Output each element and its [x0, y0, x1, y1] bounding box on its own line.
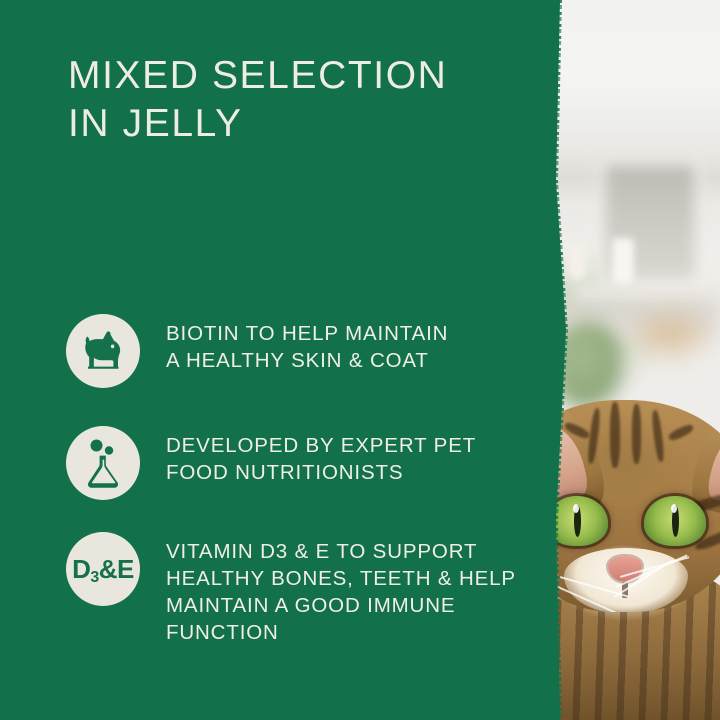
blurred-jar	[612, 238, 634, 284]
benefit-item-biotin: BIOTIN TO HELP MAINTAIN A HEALTHY SKIN &…	[66, 314, 536, 388]
product-pack-image: MIXED SELECTION IN JELLY BIOTIN TO HELP …	[0, 0, 720, 720]
benefit-line: FUNCTION	[166, 619, 516, 646]
cat-forehead-stripe	[610, 402, 620, 468]
cat-forehead-stripe	[651, 410, 665, 463]
benefit-line: DEVELOPED BY EXPERT PET	[166, 432, 476, 459]
title-line-2: IN JELLY	[68, 100, 508, 148]
vitamin-d3-e-label: D3&E	[72, 556, 134, 582]
benefit-line: HEALTHY BONES, TEETH & HELP	[166, 565, 516, 592]
science-flask-icon	[66, 426, 140, 500]
benefit-line: MAINTAIN A GOOD IMMUNE	[166, 592, 516, 619]
benefit-text-vitamin-d3-e: VITAMIN D3 & E TO SUPPORT HEALTHY BONES,…	[166, 532, 516, 646]
benefit-item-vitamin-d3-e: D3&E VITAMIN D3 & E TO SUPPORT HEALTHY B…	[66, 532, 536, 646]
benefits-list: BIOTIN TO HELP MAINTAIN A HEALTHY SKIN &…	[66, 314, 536, 646]
cat-forehead-stripe	[632, 404, 641, 464]
page-title: MIXED SELECTION IN JELLY	[68, 52, 508, 148]
benefit-text-biotin: BIOTIN TO HELP MAINTAIN A HEALTHY SKIN &…	[166, 314, 448, 374]
cat-eye-right	[644, 496, 706, 546]
vitamin-label-tail: &E	[99, 554, 134, 584]
blurred-warm-highlight	[620, 300, 720, 370]
benefit-line: FOOD NUTRITIONISTS	[166, 459, 476, 486]
benefit-item-nutritionists: DEVELOPED BY EXPERT PET FOOD NUTRITIONIS…	[66, 426, 536, 500]
vitamin-d3-e-icon: D3&E	[66, 532, 140, 606]
vitamin-label-sub: 3	[90, 569, 98, 586]
vitamin-label-main: D	[72, 554, 90, 584]
benefit-line: A HEALTHY SKIN & COAT	[166, 347, 448, 374]
benefit-line: VITAMIN D3 & E TO SUPPORT	[166, 538, 516, 565]
benefit-line: BIOTIN TO HELP MAINTAIN	[166, 320, 448, 347]
blurred-jar-secondary	[568, 246, 586, 280]
benefit-text-nutritionists: DEVELOPED BY EXPERT PET FOOD NUTRITIONIS…	[166, 426, 476, 486]
cat-forehead-stripe	[667, 423, 694, 442]
title-line-1: MIXED SELECTION	[68, 52, 508, 100]
cat-silhouette-icon	[66, 314, 140, 388]
